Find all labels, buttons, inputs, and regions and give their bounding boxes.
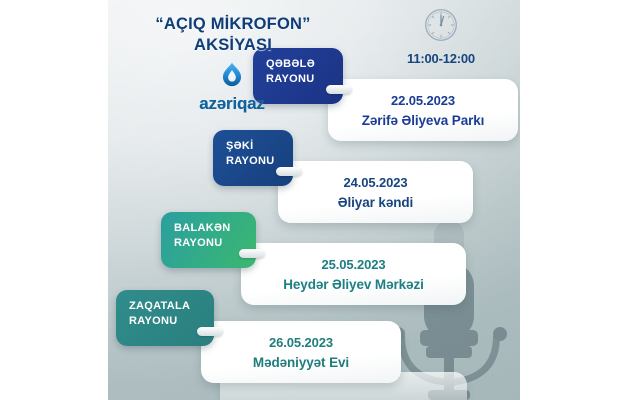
event-place: Zərifə Əliyeva Parkı — [362, 113, 485, 128]
event-date: 25.05.2023 — [321, 257, 385, 272]
campaign-poster: “AÇIQ MİKROFON” AKSİYASI — [108, 0, 520, 400]
connector-notch-icon — [326, 82, 360, 97]
region-tab-line-2: RAYONU — [129, 314, 204, 329]
time-range-label: 11:00-12:00 — [386, 51, 496, 66]
event-place: Mədəniyyət Evi — [253, 355, 349, 370]
connector-notch-icon — [197, 324, 231, 339]
event-place: Əliyar kəndi — [338, 195, 413, 210]
brand-logo: azəriqaz — [162, 62, 302, 114]
page-title: “AÇIQ MİKROFON” AKSİYASI — [118, 14, 348, 55]
event-date: 26.05.2023 — [269, 335, 333, 350]
clock-icon — [386, 8, 496, 47]
region-tab-line-1: BALAKƏN — [174, 221, 246, 236]
region-tab-seki[interactable]: ŞƏKİ RAYONU — [213, 130, 293, 186]
gas-flame-icon — [162, 62, 302, 92]
region-tab-balaken[interactable]: BALAKƏN RAYONU — [161, 212, 256, 268]
connector-notch-icon — [276, 164, 310, 179]
region-tab-line-2: RAYONU — [226, 154, 283, 169]
headline-line-1: “AÇIQ MİKROFON” — [155, 15, 310, 33]
event-date: 24.05.2023 — [343, 175, 407, 190]
region-tab-line-2: RAYONU — [174, 236, 246, 251]
region-tab-zaqatala[interactable]: ZAQATALA RAYONU — [116, 290, 214, 346]
event-card[interactable]: 26.05.2023 Mədəniyyət Evi — [201, 321, 401, 383]
brand-wordmark: azəriqaz — [162, 94, 302, 114]
headline-line-2: AKSİYASI — [118, 35, 348, 56]
event-card[interactable]: 25.05.2023 Heydər Əliyev Mərkəzi — [241, 243, 466, 305]
region-tab-line-1: ŞƏKİ — [226, 139, 283, 154]
page-root: “AÇIQ MİKROFON” AKSİYASI — [0, 0, 637, 400]
event-date: 22.05.2023 — [391, 93, 455, 108]
event-time: 11:00-12:00 — [386, 8, 496, 66]
list-item: ŞƏKİ RAYONU 24.05.2023 Əliyar kəndi — [108, 130, 520, 216]
region-tab-line-1: ZAQATALA — [129, 299, 204, 314]
event-place: Heydər Əliyev Mərkəzi — [283, 277, 424, 292]
list-item: BALAKƏN RAYONU 25.05.2023 Heydər Əliyev … — [108, 212, 520, 298]
connector-notch-icon — [239, 246, 273, 261]
